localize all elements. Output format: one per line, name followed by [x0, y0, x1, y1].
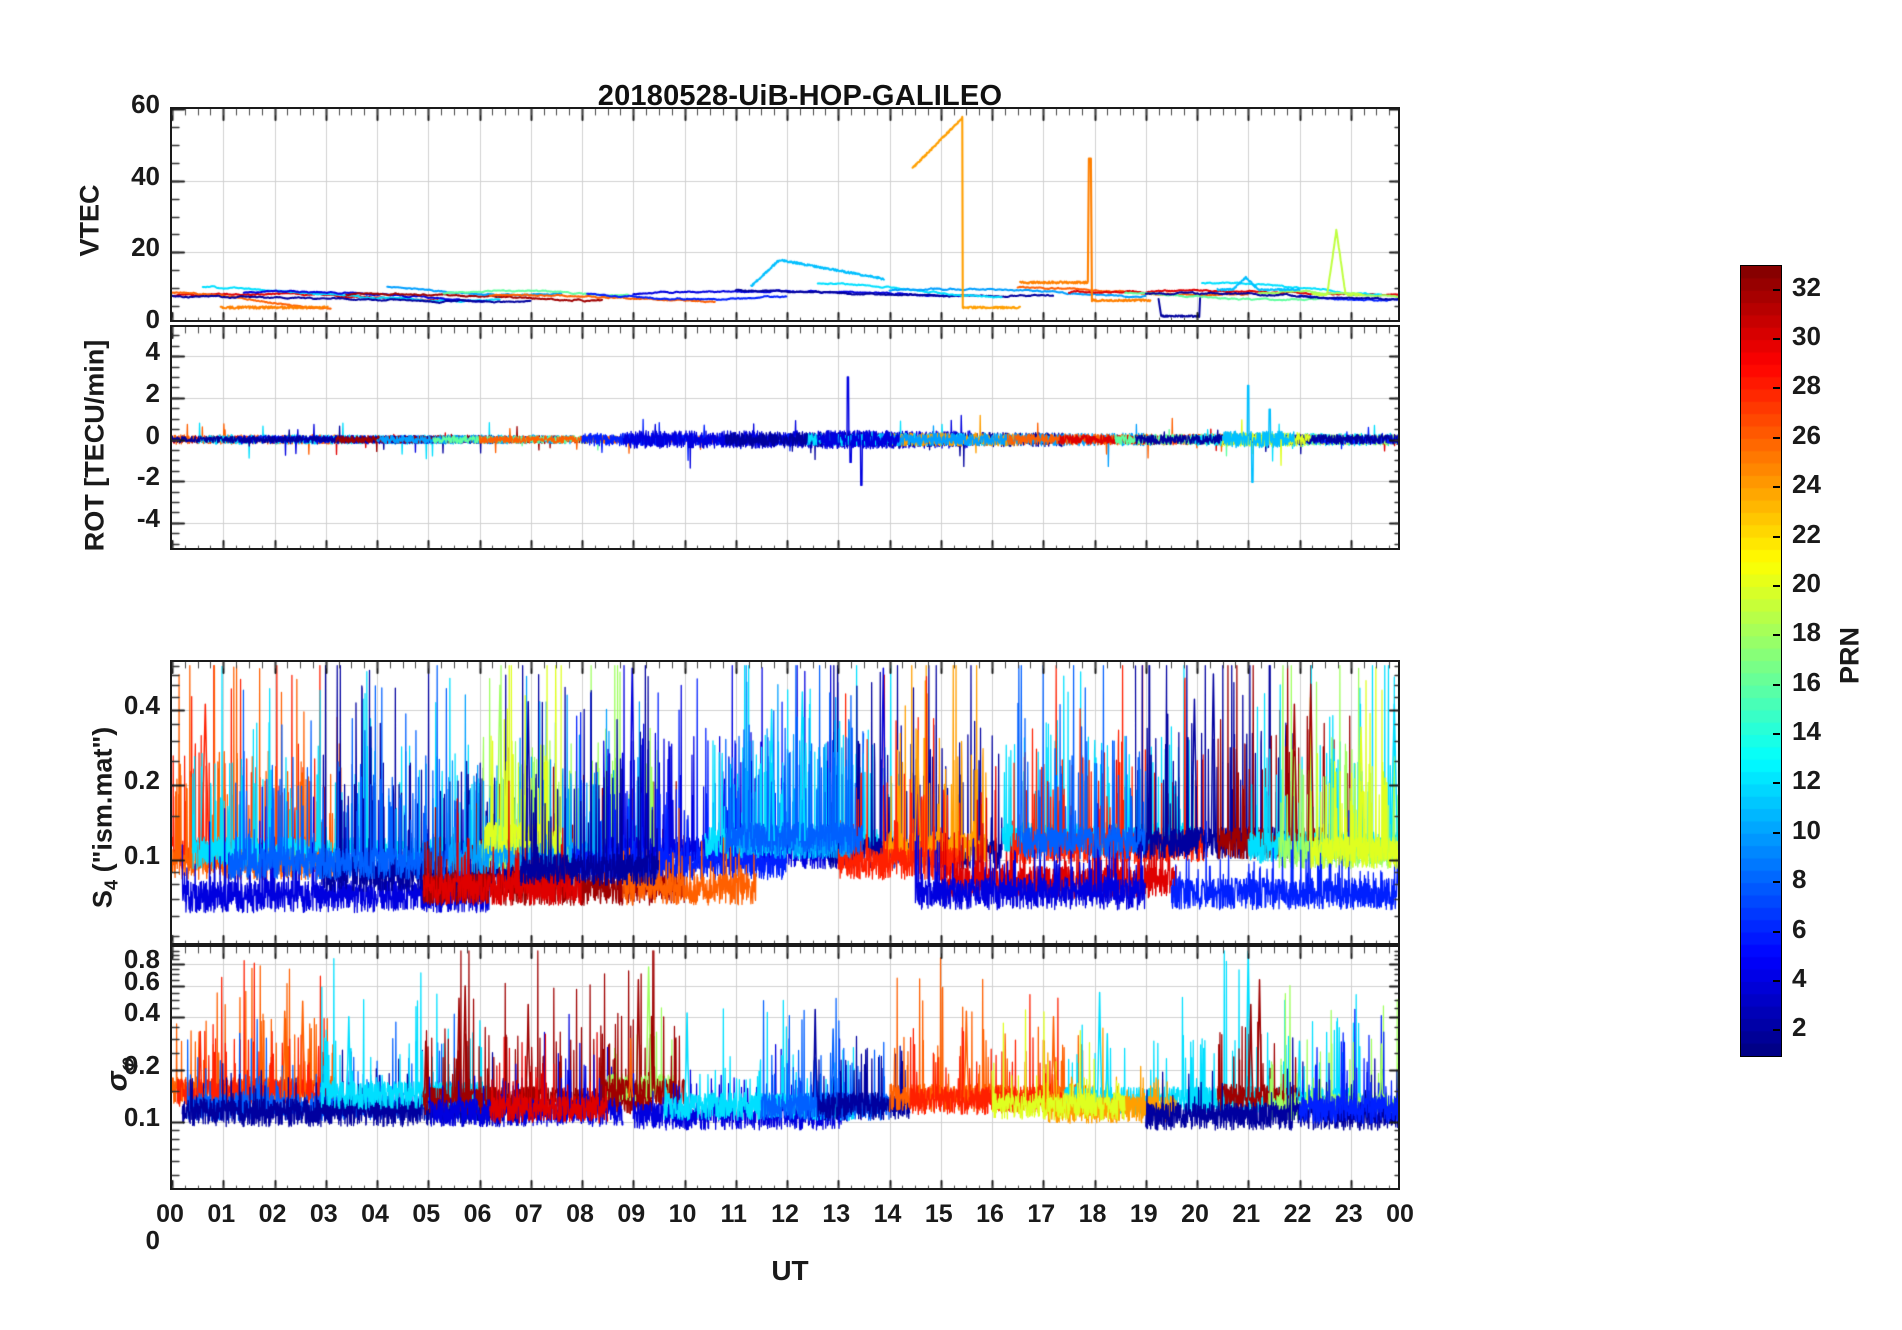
y-tick-rot-0: -4 — [60, 503, 160, 534]
panel-sigma-phi — [170, 945, 1400, 1190]
sigma-phi-plot-canvas — [172, 947, 1400, 1190]
colorbar-tick-mark-3 — [1773, 881, 1780, 883]
colorbar-tick-10: 22 — [1792, 519, 1821, 550]
y-tick-vtec-1: 20 — [60, 232, 160, 263]
y-tick-rot-1: -2 — [60, 461, 160, 492]
rot-plot-canvas — [172, 327, 1400, 550]
y-tick-sp-5: 0.8 — [60, 944, 160, 975]
panel-vtec — [170, 107, 1400, 322]
colorbar-tick-mark-4 — [1773, 832, 1780, 834]
y-tick-vtec-3: 60 — [60, 89, 160, 120]
colorbar-tick-mark-8 — [1773, 634, 1780, 636]
colorbar-label: PRN — [1835, 596, 1866, 716]
y-tick-sp-0: 0 — [60, 1225, 160, 1256]
y-tick-s4-1: 0.2 — [60, 765, 160, 796]
colorbar-tick-11: 24 — [1792, 469, 1821, 500]
colorbar-tick-mark-2 — [1773, 931, 1780, 933]
panel-s4 — [170, 660, 1400, 945]
colorbar-tick-mark-10 — [1773, 536, 1780, 538]
colorbar-tick-7: 16 — [1792, 667, 1821, 698]
colorbar-tick-mark-7 — [1773, 684, 1780, 686]
y-tick-sp-2: 0.2 — [60, 1050, 160, 1081]
colorbar-tick-0: 2 — [1792, 1012, 1806, 1043]
colorbar-tick-13: 28 — [1792, 370, 1821, 401]
vtec-plot-canvas — [172, 109, 1400, 322]
colorbar-tick-mark-6 — [1773, 733, 1780, 735]
colorbar-tick-mark-5 — [1773, 782, 1780, 784]
colorbar-tick-6: 14 — [1792, 716, 1821, 747]
y-tick-rot-3: 2 — [60, 378, 160, 409]
colorbar-tick-mark-12 — [1773, 437, 1780, 439]
y-tick-sp-1: 0.1 — [60, 1102, 160, 1133]
colorbar-tick-mark-1 — [1773, 980, 1780, 982]
colorbar-tick-mark-11 — [1773, 486, 1780, 488]
s4-plot-canvas — [172, 662, 1400, 945]
colorbar-tick-14: 30 — [1792, 321, 1821, 352]
x-tick-24: 00 — [1365, 1200, 1435, 1229]
colorbar-tick-15: 32 — [1792, 272, 1821, 303]
axis-label-ut: UT — [700, 1255, 880, 1287]
colorbar-tick-mark-0 — [1773, 1029, 1780, 1031]
colorbar-tick-mark-9 — [1773, 585, 1780, 587]
colorbar-tick-mark-14 — [1773, 338, 1780, 340]
colorbar-tick-3: 8 — [1792, 864, 1806, 895]
y-tick-vtec-0: 0 — [60, 304, 160, 335]
y-tick-sp-3: 0.4 — [60, 997, 160, 1028]
colorbar-tick-8: 18 — [1792, 617, 1821, 648]
colorbar-tick-mark-15 — [1773, 289, 1780, 291]
y-tick-s4-0: 0.1 — [60, 840, 160, 871]
y-tick-rot-2: 0 — [60, 420, 160, 451]
colorbar-tick-4: 10 — [1792, 815, 1821, 846]
colorbar-gradient — [1741, 266, 1781, 1056]
colorbar-tick-mark-13 — [1773, 387, 1780, 389]
colorbar-tick-9: 20 — [1792, 568, 1821, 599]
panel-rot — [170, 325, 1400, 550]
colorbar-tick-1: 4 — [1792, 963, 1806, 994]
y-tick-rot-4: 4 — [60, 336, 160, 367]
figure-root: 20180528-UiB-HOP-GALILEO VTEC ROT [TECU/… — [0, 0, 1902, 1330]
colorbar — [1740, 265, 1782, 1057]
colorbar-tick-2: 6 — [1792, 914, 1806, 945]
colorbar-tick-12: 26 — [1792, 420, 1821, 451]
y-tick-s4-2: 0.4 — [60, 690, 160, 721]
y-tick-vtec-2: 40 — [60, 161, 160, 192]
colorbar-tick-5: 12 — [1792, 765, 1821, 796]
